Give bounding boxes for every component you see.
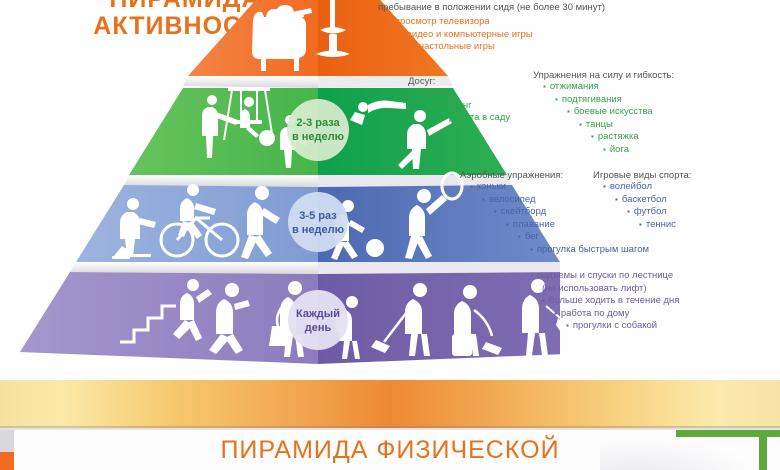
list-item: боулинг (408, 100, 510, 113)
list-item: танцы (533, 119, 674, 132)
list-item: бег (460, 231, 649, 244)
purple-note: (не использовать лифт) (520, 283, 679, 296)
list-item: работа в саду (408, 112, 510, 125)
list-item: настольные игры (378, 41, 605, 54)
infographic-canvas: ПИРАМИДА АКТИВНОСТИ (0, 0, 780, 470)
badge-blue-line2: в неделю (292, 224, 344, 236)
list-item: больше ходить в течение дня (520, 295, 679, 308)
pyramid-tier-purple: Каждый день (20, 272, 560, 364)
badge-purple: Каждый день (288, 290, 348, 350)
list-item: баскетбол (593, 194, 691, 207)
text-block-green-strength: Упражнения на силу и гибкость: отжимания… (533, 70, 674, 156)
heading-green-leisure: Досуг: (408, 76, 510, 87)
heading-green-strength: Упражнения на силу и гибкость: (533, 70, 674, 81)
list-item: работа по дому (520, 308, 679, 321)
text-block-green-leisure: Досуг: качели боулинг работа в саду (408, 76, 510, 125)
text-block-purple: подъемы и спуски по лестнице (не использ… (520, 270, 679, 333)
badge-blue-line1: 3-5 раз (299, 210, 337, 222)
list-item: футбол (593, 206, 691, 219)
badge-blue: 3-5 раз в неделю (288, 192, 348, 252)
list-item: растяжка (533, 131, 674, 144)
list-item: видео и компьютерные игры (378, 29, 605, 42)
decorative-gradient-band (0, 380, 780, 428)
list-item: качели (408, 87, 510, 100)
text-block-blue-sports: Игровые виды спорта: волейбол баскетбол … (593, 170, 691, 231)
heading-orange: пребывание в положении сидя (не более 30… (378, 2, 605, 13)
page-title-bottom: ПИРАМИДА ФИЗИЧЕСКОЙ (0, 436, 780, 465)
list-item: йога (533, 144, 674, 157)
list-item: подтягивания (533, 94, 674, 107)
text-block-orange: пребывание в положении сидя (не более 30… (378, 2, 605, 54)
badge-green-line1: 2-3 раза (296, 117, 340, 129)
list-item: боевые искусства (533, 106, 674, 119)
heading-blue-sports: Игровые виды спорта: (593, 170, 691, 181)
badge-purple-line2: день (305, 322, 332, 334)
badge-purple-line1: Каждый (296, 308, 340, 320)
list-item: теннис (593, 219, 691, 232)
list-item: подъемы и спуски по лестнице (520, 270, 679, 283)
list-item: прогулки с собакой (520, 320, 679, 333)
badge-green: 2-3 раза в неделю (287, 99, 349, 161)
badge-green-line2: в неделю (292, 131, 344, 143)
list-item: просмотр телевизора (378, 16, 605, 29)
list-item: прогулка быстрым шагом (460, 244, 649, 257)
list-item: отжимания (533, 81, 674, 94)
list-item: волейбол (593, 181, 691, 194)
